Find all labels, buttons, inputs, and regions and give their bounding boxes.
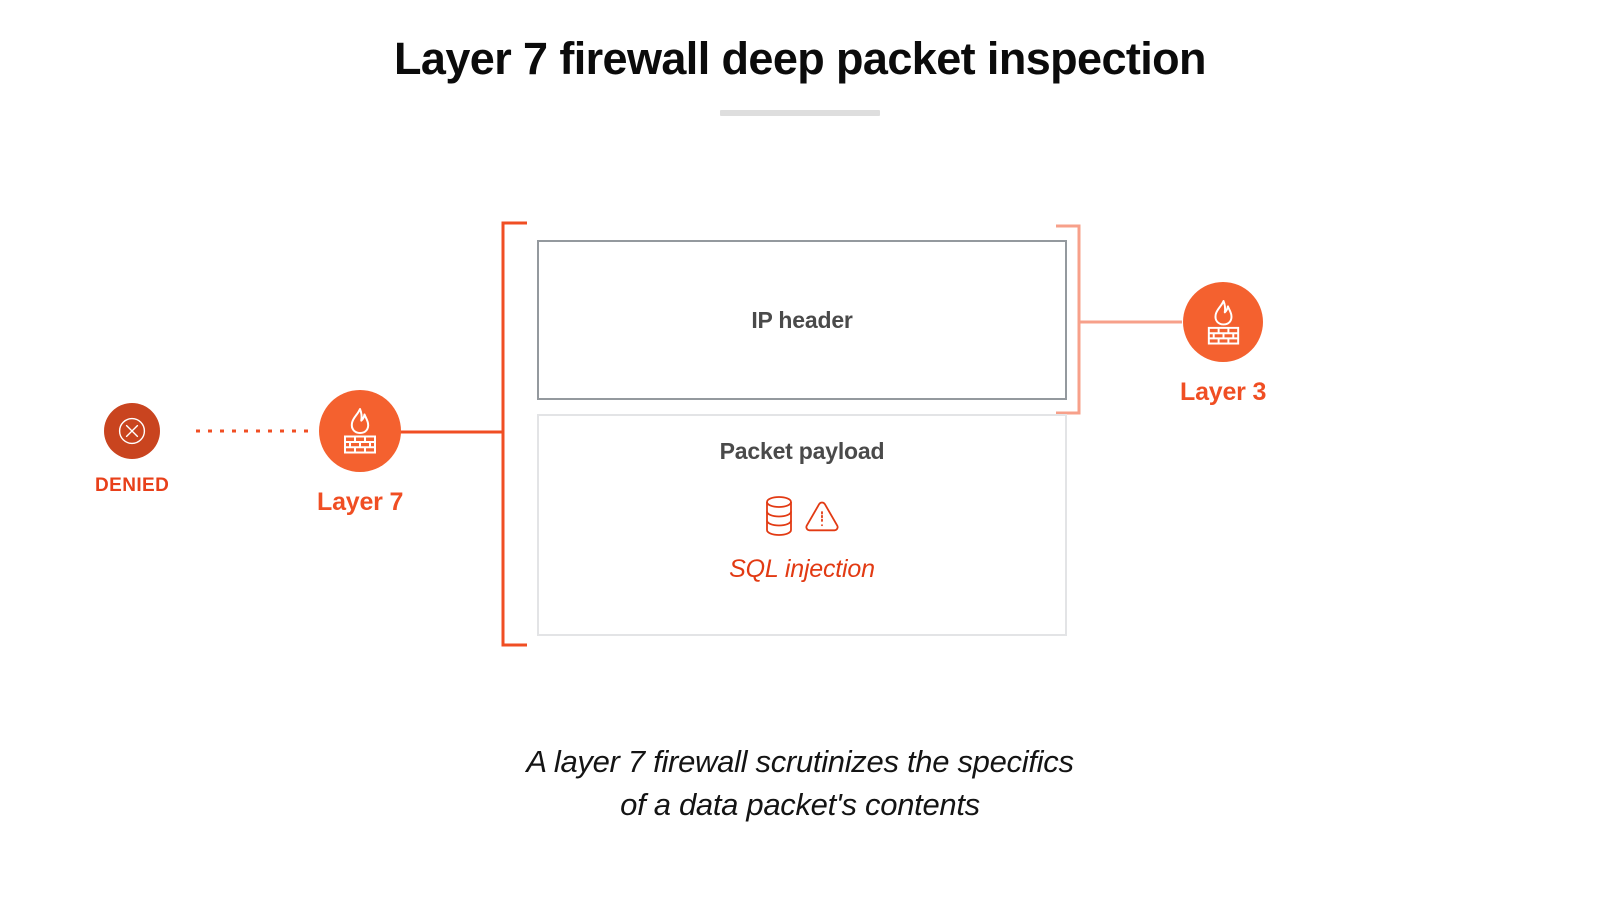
- denied-circle: [104, 403, 160, 459]
- sql-injection-icon-group: [762, 493, 842, 539]
- database-cylinder-icon: [762, 494, 796, 538]
- caption: A layer 7 firewall scrutinizes the speci…: [0, 740, 1600, 827]
- layer7-circle: [319, 390, 401, 472]
- packet-payload-box: Packet payload: [537, 414, 1067, 636]
- caption-line-2: of a data packet's contents: [0, 783, 1600, 826]
- packet-payload-label: Packet payload: [720, 438, 885, 465]
- circle-x-icon: [115, 414, 149, 448]
- sql-injection-label: SQL injection: [729, 555, 875, 584]
- node-denied[interactable]: DENIED: [95, 403, 169, 497]
- sql-injection-threat-group: SQL injection: [729, 493, 875, 584]
- layer3-circle: [1183, 282, 1263, 362]
- denied-label: DENIED: [95, 475, 169, 497]
- node-layer7[interactable]: Layer 7: [317, 390, 403, 517]
- ip-header-box: IP header: [537, 240, 1067, 400]
- caption-line-1: A layer 7 firewall scrutinizes the speci…: [0, 740, 1600, 783]
- firewall-flame-icon: [337, 406, 383, 456]
- firewall-flame-icon: [1201, 298, 1246, 347]
- layer3-label: Layer 3: [1180, 378, 1266, 407]
- ip-header-label: IP header: [751, 307, 852, 334]
- bracket-layer7: [503, 223, 527, 645]
- node-layer3[interactable]: Layer 3: [1180, 282, 1266, 407]
- layer7-label: Layer 7: [317, 488, 403, 517]
- warning-triangle-icon: [802, 496, 842, 536]
